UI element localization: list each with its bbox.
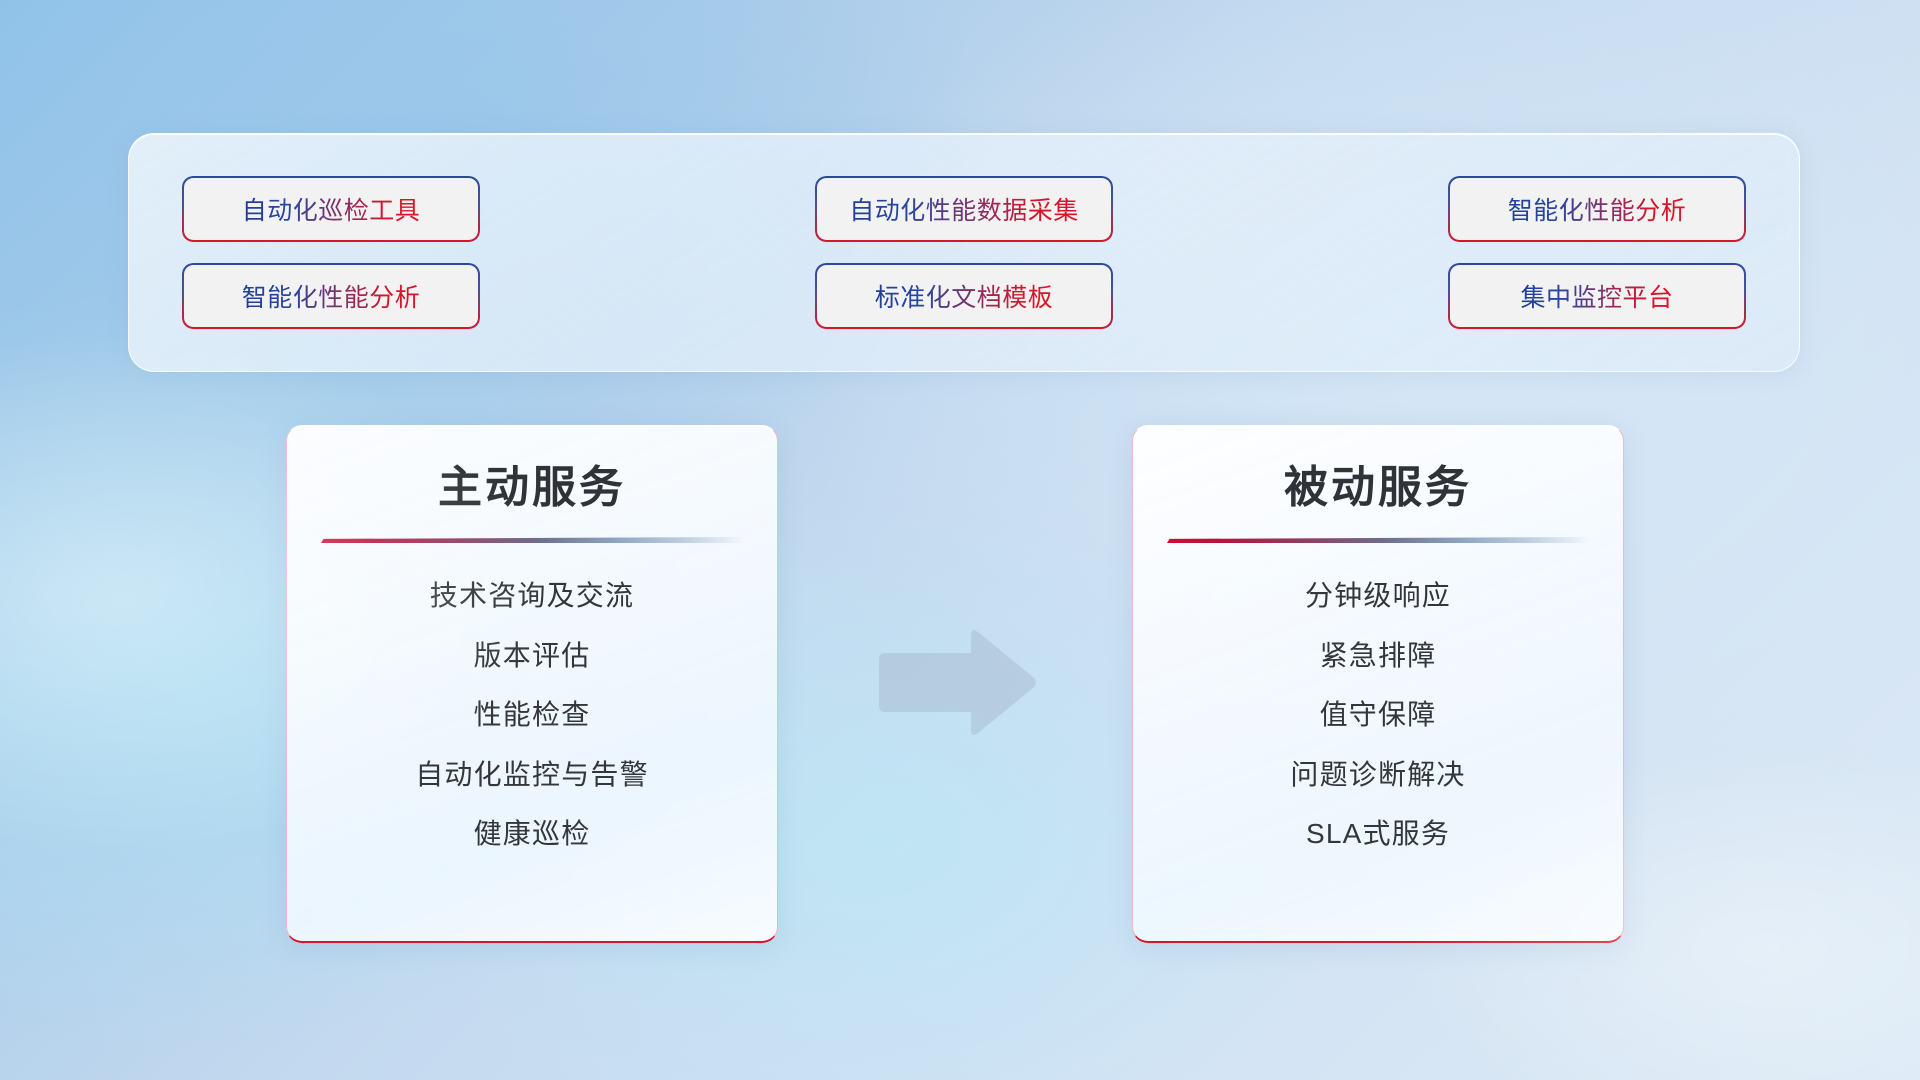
list-item: 版本评估 bbox=[321, 639, 743, 673]
list-item: 自动化监控与告警 bbox=[321, 758, 743, 792]
list-item: SLA式服务 bbox=[1167, 817, 1589, 851]
capability-pill-label: 智能化性能分析 bbox=[1508, 191, 1687, 227]
capability-pill-label: 自动化性能数据采集 bbox=[849, 191, 1079, 227]
capability-pill-label: 智能化性能分析 bbox=[242, 278, 421, 314]
capability-pill-intelligent-performance-analysis-2[interactable]: 智能化性能分析 bbox=[184, 265, 478, 327]
capability-pill-automated-inspection-tool[interactable]: 自动化巡检工具 bbox=[184, 178, 478, 240]
list-item: 分钟级响应 bbox=[1167, 579, 1589, 613]
card-title-divider bbox=[1167, 537, 1591, 543]
capabilities-row-2: 智能化性能分析 标准化文档模板 集中监控平台 bbox=[184, 265, 1744, 327]
list-item: 问题诊断解决 bbox=[1167, 758, 1589, 792]
capability-pill-label: 自动化巡检工具 bbox=[242, 191, 421, 227]
arrow-right-icon bbox=[875, 625, 1040, 740]
card-reactive-service: 被动服务 分钟级响应 紧急排障 值守保障 问题诊断解决 SLA式服务 bbox=[1132, 425, 1624, 943]
capabilities-panel: 自动化巡检工具 自动化性能数据采集 智能化性能分析 智能化性能分析 标准化文档模… bbox=[128, 133, 1800, 372]
card-proactive-service: 主动服务 技术咨询及交流 版本评估 性能检查 自动化监控与告警 健康巡检 bbox=[286, 425, 778, 943]
capability-pill-intelligent-performance-analysis[interactable]: 智能化性能分析 bbox=[1450, 178, 1744, 240]
list-item: 值守保障 bbox=[1167, 698, 1589, 732]
capabilities-row-1: 自动化巡检工具 自动化性能数据采集 智能化性能分析 bbox=[184, 178, 1744, 240]
capability-pill-label: 标准化文档模板 bbox=[875, 278, 1054, 314]
list-item: 技术咨询及交流 bbox=[321, 579, 743, 613]
capability-pill-standardized-doc-template[interactable]: 标准化文档模板 bbox=[817, 265, 1111, 327]
card-title: 主动服务 bbox=[321, 460, 743, 515]
card-item-list: 技术咨询及交流 版本评估 性能检查 自动化监控与告警 健康巡检 bbox=[321, 579, 743, 851]
card-title: 被动服务 bbox=[1167, 460, 1589, 515]
list-item: 健康巡检 bbox=[321, 817, 743, 851]
capability-pill-centralized-monitoring-platform[interactable]: 集中监控平台 bbox=[1450, 265, 1744, 327]
card-item-list: 分钟级响应 紧急排障 值守保障 问题诊断解决 SLA式服务 bbox=[1167, 579, 1589, 851]
capability-pill-automated-performance-data-collection[interactable]: 自动化性能数据采集 bbox=[817, 178, 1111, 240]
capability-pill-label: 集中监控平台 bbox=[1520, 278, 1673, 314]
slide-canvas: 自动化巡检工具 自动化性能数据采集 智能化性能分析 智能化性能分析 标准化文档模… bbox=[0, 0, 1920, 1080]
list-item: 紧急排障 bbox=[1167, 639, 1589, 673]
card-title-divider bbox=[321, 537, 745, 543]
list-item: 性能检查 bbox=[321, 698, 743, 732]
